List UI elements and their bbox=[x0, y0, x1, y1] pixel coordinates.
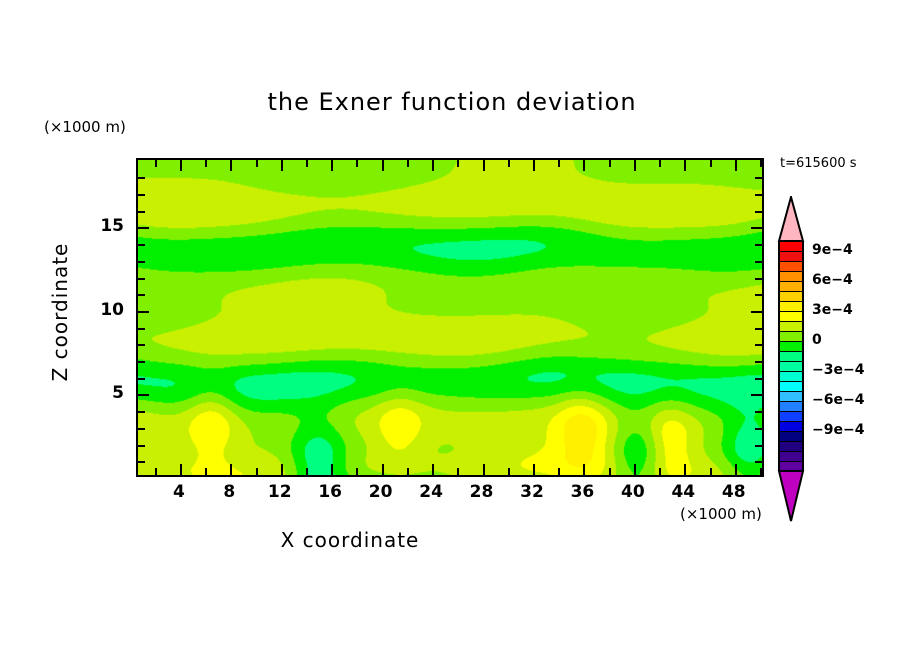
x-axis-tick bbox=[306, 160, 308, 167]
colorbar-over-arrow-icon bbox=[776, 196, 806, 242]
y-axis-tick-label: 10 bbox=[74, 300, 124, 320]
x-axis-tick bbox=[382, 160, 384, 171]
y-axis-tick bbox=[751, 394, 762, 396]
y-axis-tick bbox=[755, 411, 762, 413]
x-axis-tick bbox=[407, 160, 409, 167]
colorbar-band bbox=[778, 321, 804, 331]
x-axis-unit-label: (×1000 m) bbox=[680, 505, 762, 523]
x-axis-tick bbox=[483, 160, 485, 171]
x-axis-tick bbox=[558, 160, 560, 167]
x-axis-tick bbox=[230, 464, 232, 475]
colorbar-band bbox=[778, 381, 804, 391]
colorbar-band bbox=[778, 371, 804, 381]
y-axis-tick bbox=[138, 311, 149, 313]
y-axis-tick bbox=[138, 227, 149, 229]
x-axis-tick bbox=[331, 464, 333, 475]
colorbar-band bbox=[778, 281, 804, 291]
y-axis-tick bbox=[138, 361, 145, 363]
x-axis-tick bbox=[710, 468, 712, 475]
x-axis-tick bbox=[609, 160, 611, 167]
y-axis-tick-label: 5 bbox=[74, 383, 124, 403]
colorbar-band bbox=[778, 431, 804, 441]
colorbar-band bbox=[778, 291, 804, 301]
colorbar-band bbox=[778, 261, 804, 271]
y-axis-tick bbox=[138, 261, 145, 263]
x-axis-tick bbox=[256, 160, 258, 167]
x-axis-tick bbox=[583, 160, 585, 171]
y-axis-tick bbox=[755, 344, 762, 346]
x-axis-tick bbox=[659, 160, 661, 167]
x-axis-tick bbox=[356, 160, 358, 167]
x-axis-tick bbox=[180, 464, 182, 475]
x-axis-title: X coordinate bbox=[0, 528, 700, 552]
y-axis-tick bbox=[138, 211, 145, 213]
colorbar-tick-label: 6e−4 bbox=[812, 272, 853, 288]
x-axis-tick bbox=[634, 464, 636, 475]
colorbar-band bbox=[778, 331, 804, 341]
colorbar-band bbox=[778, 301, 804, 311]
y-axis-tick bbox=[138, 177, 145, 179]
colorbar-band bbox=[778, 401, 804, 411]
y-axis-tick bbox=[755, 261, 762, 263]
x-axis-tick bbox=[508, 468, 510, 475]
time-annotation: t=615600 s bbox=[780, 156, 857, 171]
y-axis-tick bbox=[755, 194, 762, 196]
y-axis-tick bbox=[138, 461, 145, 463]
contour-plot-area[interactable] bbox=[136, 158, 764, 477]
colorbar-band bbox=[778, 361, 804, 371]
y-axis-tick bbox=[138, 428, 145, 430]
colorbar-band bbox=[778, 391, 804, 401]
y-axis-tick bbox=[755, 278, 762, 280]
colorbar-band bbox=[778, 311, 804, 321]
x-axis-tick bbox=[180, 160, 182, 171]
y-axis-tick bbox=[138, 328, 145, 330]
y-axis-tick bbox=[751, 227, 762, 229]
colorbar-under-arrow-icon bbox=[776, 470, 806, 522]
x-axis-tick bbox=[306, 468, 308, 475]
x-axis-tick bbox=[331, 160, 333, 171]
colorbar-tick-label: −3e−4 bbox=[812, 362, 864, 378]
x-axis-tick bbox=[281, 464, 283, 475]
colorbar-band bbox=[778, 411, 804, 421]
y-axis-unit-label: (×1000 m) bbox=[44, 118, 126, 136]
x-axis-tick bbox=[684, 464, 686, 475]
colorbar-tick-label: −9e−4 bbox=[812, 422, 864, 438]
x-axis-tick bbox=[205, 468, 207, 475]
y-axis-tick bbox=[138, 445, 145, 447]
y-axis-title: Z coordinate bbox=[48, 192, 72, 432]
x-axis-tick bbox=[609, 468, 611, 475]
x-axis-tick bbox=[659, 468, 661, 475]
page-title: the Exner function deviation bbox=[0, 88, 904, 116]
colorbar-band bbox=[778, 441, 804, 451]
x-axis-tick bbox=[483, 464, 485, 475]
x-axis-tick bbox=[256, 468, 258, 475]
y-axis-tick bbox=[755, 361, 762, 363]
x-axis-tick bbox=[508, 160, 510, 167]
x-axis-tick bbox=[533, 464, 535, 475]
colorbar-band bbox=[778, 351, 804, 361]
colorbar-tick-label: 0 bbox=[812, 332, 822, 348]
y-axis-tick bbox=[755, 211, 762, 213]
y-axis-tick bbox=[138, 394, 149, 396]
x-axis-tick-label: 48 bbox=[704, 482, 764, 502]
y-axis-tick bbox=[755, 328, 762, 330]
y-axis-tick bbox=[138, 294, 145, 296]
x-axis-tick bbox=[382, 464, 384, 475]
x-axis-tick bbox=[760, 468, 762, 475]
colorbar-band bbox=[778, 451, 804, 461]
colorbar-tick-label: 3e−4 bbox=[812, 302, 853, 318]
x-axis-tick bbox=[457, 160, 459, 167]
x-axis-tick bbox=[710, 160, 712, 167]
colorbar-tick-label: 9e−4 bbox=[812, 242, 853, 258]
y-axis-tick bbox=[755, 378, 762, 380]
x-axis-tick bbox=[281, 160, 283, 171]
y-axis-tick bbox=[138, 244, 145, 246]
x-axis-tick bbox=[205, 160, 207, 167]
x-axis-tick bbox=[407, 468, 409, 475]
colorbar-tick-label: −6e−4 bbox=[812, 392, 864, 408]
colorbar-band bbox=[778, 251, 804, 261]
y-axis-tick bbox=[755, 461, 762, 463]
y-axis-tick bbox=[755, 244, 762, 246]
x-axis-tick bbox=[533, 160, 535, 171]
x-axis-tick bbox=[760, 160, 762, 167]
x-axis-tick bbox=[155, 468, 157, 475]
y-axis-tick bbox=[138, 411, 145, 413]
y-axis-tick bbox=[138, 344, 145, 346]
x-axis-tick bbox=[735, 160, 737, 171]
colorbar-band bbox=[778, 421, 804, 431]
y-axis-tick bbox=[751, 311, 762, 313]
colorbar-band bbox=[778, 271, 804, 281]
y-axis-tick bbox=[755, 177, 762, 179]
x-axis-tick bbox=[558, 468, 560, 475]
x-axis-tick bbox=[356, 468, 358, 475]
x-axis-tick bbox=[432, 464, 434, 475]
y-axis-tick bbox=[755, 428, 762, 430]
x-axis-tick bbox=[230, 160, 232, 171]
exner-deviation-field bbox=[138, 160, 762, 475]
colorbar-band bbox=[778, 241, 804, 251]
colorbar[interactable] bbox=[778, 241, 804, 471]
x-axis-tick bbox=[457, 468, 459, 475]
x-axis-tick bbox=[155, 160, 157, 167]
y-axis-tick-label: 15 bbox=[74, 216, 124, 236]
x-axis-tick bbox=[583, 464, 585, 475]
y-axis-tick bbox=[138, 278, 145, 280]
colorbar-band bbox=[778, 341, 804, 351]
y-axis-tick bbox=[138, 194, 145, 196]
x-axis-tick bbox=[735, 464, 737, 475]
y-axis-tick bbox=[755, 445, 762, 447]
x-axis-tick bbox=[684, 160, 686, 171]
x-axis-tick bbox=[634, 160, 636, 171]
y-axis-tick bbox=[138, 378, 145, 380]
x-axis-tick bbox=[432, 160, 434, 171]
y-axis-tick bbox=[755, 294, 762, 296]
